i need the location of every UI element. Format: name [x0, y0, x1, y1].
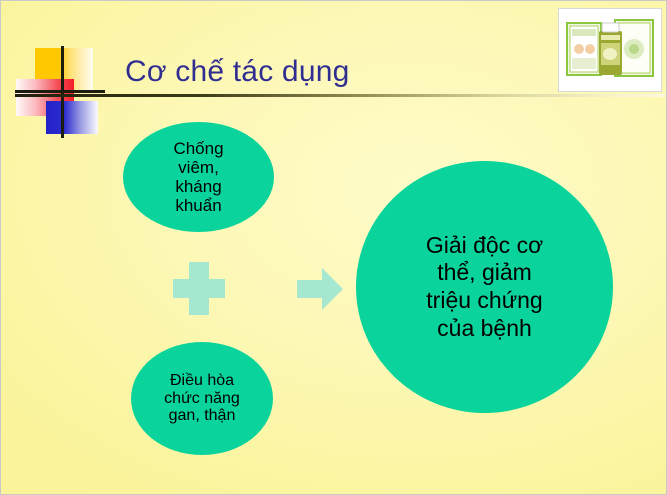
line-1: Chống [173, 139, 223, 158]
slide-canvas: Cơ chế tác dụng Chống [0, 0, 667, 495]
title-underline-rule [15, 94, 665, 97]
logo-vertical-line [61, 46, 64, 138]
plus-icon [173, 262, 225, 315]
shape-dieu-hoa-label: Điều hòa chức năng gan, thận [164, 372, 240, 426]
shape-dieu-hoa-chuc-nang[interactable]: Điều hòa chức năng gan, thận [131, 342, 273, 455]
right-arrow-icon [297, 268, 343, 310]
line-2: viêm, [178, 158, 219, 177]
slide-title: Cơ chế tác dụng [125, 55, 349, 89]
logo-blue-rect [46, 101, 98, 134]
decorative-squares-logo [15, 46, 105, 138]
line-3: gan, thận [169, 407, 236, 424]
logo-horizontal-line [15, 90, 105, 93]
line-4: của bệnh [437, 315, 532, 341]
shape-chong-viem-label: Chống viêm, kháng khuẩn [173, 139, 223, 215]
shape-giai-doc-co-the[interactable]: Giải độc cơ thể, giảm triệu chứng của bệ… [356, 161, 613, 413]
shape-giai-doc-label: Giải độc cơ thể, giảm triệu chứng của bệ… [426, 232, 543, 342]
line-4: khuẩn [175, 196, 221, 215]
right-arrow-glyph [297, 268, 343, 310]
line-3: kháng [175, 177, 221, 196]
line-1: Giải độc cơ [426, 232, 543, 258]
product-photo-graphic [559, 9, 659, 89]
plus-vertical-bar [189, 262, 209, 315]
line-1: Điều hòa [170, 372, 234, 389]
line-2: thể, giảm [437, 259, 532, 285]
line-3: triệu chứng [426, 287, 542, 313]
shape-chong-viem-khang-khuan[interactable]: Chống viêm, kháng khuẩn [123, 122, 274, 232]
line-2: chức năng [164, 390, 240, 407]
product-photo [558, 8, 662, 92]
